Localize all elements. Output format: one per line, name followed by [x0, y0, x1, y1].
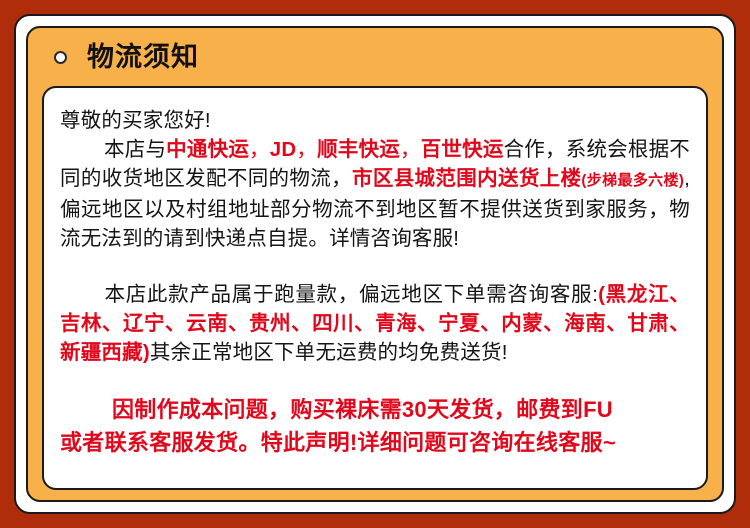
courier-separator-2: ，	[296, 138, 317, 161]
courier-jd: JD	[270, 138, 297, 161]
notice-content-box: 尊敬的买家您好! 本店与中通快运，JD，顺丰快运，百世快运合作，系统会根据不同的…	[42, 86, 708, 490]
circle-bullet-icon	[54, 51, 67, 64]
regions-paren-close: )	[143, 341, 150, 364]
panel-title: 物流须知	[87, 44, 199, 71]
logistics-notice-banner: 物流须知 尊敬的买家您好! 本店与中通快运，JD，顺丰快运，百世快运合作，系统会…	[0, 0, 750, 528]
delivery-highlight-note: (步梯最多六楼)	[581, 172, 684, 189]
courier-separator-1: ，	[249, 138, 270, 161]
courier-zhongtong: 中通快运	[166, 138, 249, 161]
delivery-highlight: 市区县城范围内送货上楼	[352, 167, 581, 190]
paragraph-three: 因制作成本问题，购买裸床需30天发货，邮费到FU或者联系客服发货。特此声明!详细…	[60, 393, 690, 459]
statement-line-two: 或者联系客服发货。特此声明!详细问题可咨询在线客服~	[60, 430, 616, 455]
orange-panel: 物流须知 尊敬的买家您好! 本店与中通快运，JD，顺丰快运，百世快运合作，系统会…	[26, 26, 724, 502]
courier-baishi: 百世快运	[421, 138, 504, 161]
panel-header: 物流须知	[28, 28, 722, 86]
paragraph-one-lead: 本店与	[104, 138, 166, 161]
paragraph-two-lead: 本店此款产品属于跑量款，偏远地区下单需咨询客服:	[104, 283, 598, 306]
courier-shunfeng: 顺丰快运	[317, 138, 400, 161]
statement-line-one: 因制作成本问题，购买裸床需30天发货，邮费到FU	[112, 397, 613, 422]
paragraph-two: 本店此款产品属于跑量款，偏远地区下单需咨询客服:(黑龙江、吉林、辽宁、云南、贵州…	[60, 280, 690, 367]
outer-white-card: 物流须知 尊敬的买家您好! 本店与中通快运，JD，顺丰快运，百世快运合作，系统会…	[14, 14, 736, 514]
paragraph-one: 尊敬的买家您好! 本店与中通快运，JD，顺丰快运，百世快运合作，系统会根据不同的…	[60, 106, 690, 253]
greeting-text: 尊敬的买家您好!	[60, 109, 211, 132]
paragraph-two-tail: 其余正常地区下单无运费的均免费送货!	[150, 341, 508, 364]
courier-separator-3: ，	[400, 138, 421, 161]
